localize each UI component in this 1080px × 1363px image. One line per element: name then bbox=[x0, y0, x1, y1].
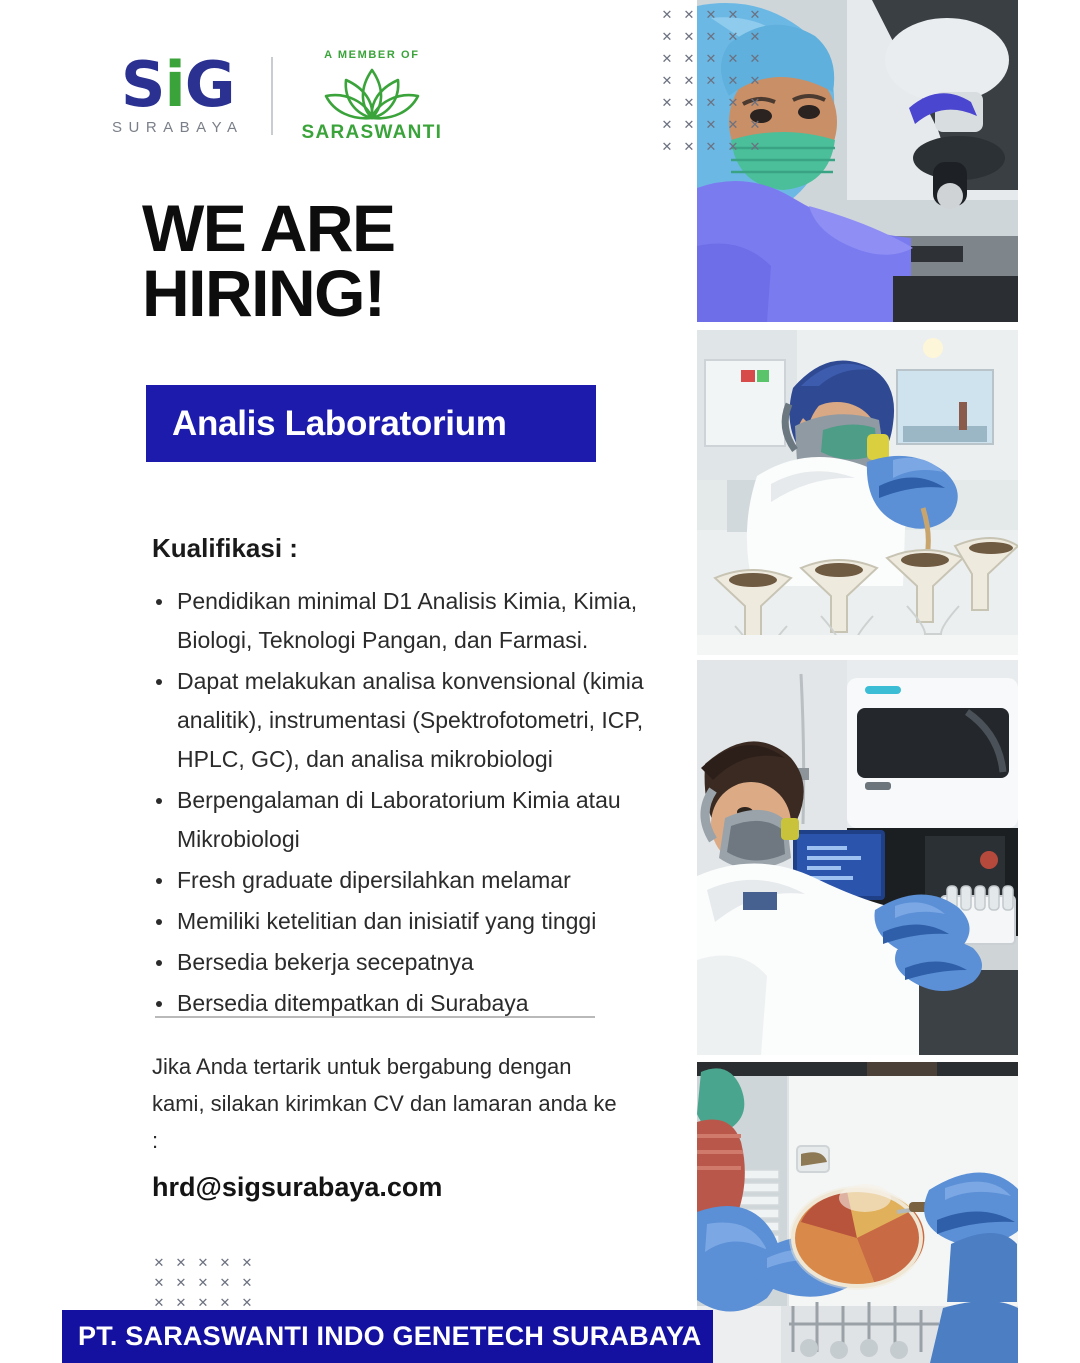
list-item: Memiliki ketelitian dan inisiatif yang t… bbox=[152, 902, 672, 941]
role-title: Analis Laboratorium bbox=[172, 404, 507, 444]
photo-column bbox=[697, 0, 1018, 1363]
logo-divider bbox=[271, 57, 273, 135]
lab-analyst-filtration-photo bbox=[697, 330, 1018, 655]
sig-letter-s: S bbox=[121, 48, 165, 121]
x-mark-icon: ✕ bbox=[744, 140, 766, 162]
decorative-x-grid-top-right: ✕✕✕✕✕✕✕✕✕✕✕✕✕✕✕✕✕✕✕✕✕✕✕✕✕✕✕✕✕✕✕✕✕✕✕ bbox=[656, 8, 766, 162]
x-mark-icon: ✕ bbox=[678, 96, 700, 118]
x-mark-icon: ✕ bbox=[678, 30, 700, 52]
list-item: Berpengalaman di Laboratorium Kimia atau… bbox=[152, 781, 672, 859]
x-mark-icon: ✕ bbox=[722, 8, 744, 30]
x-mark-icon: ✕ bbox=[722, 118, 744, 140]
x-mark-icon: ✕ bbox=[656, 140, 678, 162]
x-mark-icon: ✕ bbox=[744, 8, 766, 30]
page-title: WE ARE HIRING! bbox=[142, 196, 395, 325]
x-mark-icon: ✕ bbox=[214, 1276, 236, 1296]
x-mark-icon: ✕ bbox=[722, 52, 744, 74]
sig-subtitle: SURABAYA bbox=[112, 119, 243, 136]
x-mark-icon: ✕ bbox=[192, 1256, 214, 1276]
content-column: SiG SURABAYA A MEMBER OF SARASWANTI bbox=[0, 0, 700, 1363]
decorative-x-grid-bottom-left: ✕✕✕✕✕✕✕✕✕✕✕✕✕✕✕ bbox=[148, 1256, 258, 1316]
x-mark-icon: ✕ bbox=[214, 1256, 236, 1276]
x-mark-icon: ✕ bbox=[700, 140, 722, 162]
x-mark-icon: ✕ bbox=[700, 96, 722, 118]
x-mark-icon: ✕ bbox=[170, 1256, 192, 1276]
x-mark-icon: ✕ bbox=[148, 1276, 170, 1296]
x-mark-icon: ✕ bbox=[656, 8, 678, 30]
role-banner: Analis Laboratorium bbox=[146, 385, 596, 462]
sig-logo: SiG SURABAYA bbox=[112, 56, 243, 136]
x-mark-icon: ✕ bbox=[236, 1276, 258, 1296]
lab-analyst-instrument-photo bbox=[697, 660, 1018, 1055]
section-divider bbox=[155, 1016, 595, 1018]
job-poster: SiG SURABAYA A MEMBER OF SARASWANTI bbox=[0, 0, 1080, 1363]
qualifications-list: Pendidikan minimal D1 Analisis Kimia, Ki… bbox=[152, 582, 672, 1025]
list-item: Fresh graduate dipersilahkan melamar bbox=[152, 861, 672, 900]
x-mark-icon: ✕ bbox=[656, 74, 678, 96]
x-mark-icon: ✕ bbox=[700, 30, 722, 52]
x-mark-icon: ✕ bbox=[722, 96, 744, 118]
x-mark-icon: ✕ bbox=[678, 118, 700, 140]
x-mark-icon: ✕ bbox=[678, 74, 700, 96]
x-mark-icon: ✕ bbox=[656, 118, 678, 140]
sig-letter-g: G bbox=[185, 48, 235, 121]
x-mark-icon: ✕ bbox=[656, 52, 678, 74]
x-mark-icon: ✕ bbox=[700, 52, 722, 74]
x-mark-icon: ✕ bbox=[678, 52, 700, 74]
list-item: Dapat melakukan analisa konvensional (ki… bbox=[152, 662, 672, 779]
list-item: Pendidikan minimal D1 Analisis Kimia, Ki… bbox=[152, 582, 672, 660]
x-mark-icon: ✕ bbox=[170, 1276, 192, 1296]
x-mark-icon: ✕ bbox=[656, 30, 678, 52]
saraswanti-logo: A MEMBER OF SARASWANTI bbox=[301, 49, 442, 144]
company-name: PT. SARASWANTI INDO GENETECH SURABAYA bbox=[78, 1321, 701, 1352]
lotus-icon bbox=[316, 64, 428, 120]
logo-row: SiG SURABAYA A MEMBER OF SARASWANTI bbox=[112, 40, 442, 152]
headline-line-1: WE ARE bbox=[142, 196, 395, 261]
x-mark-icon: ✕ bbox=[236, 1256, 258, 1276]
lab-analyst-petri-dish-photo bbox=[697, 1062, 1018, 1363]
x-mark-icon: ✕ bbox=[700, 118, 722, 140]
headline-line-2: HIRING! bbox=[142, 261, 395, 326]
x-mark-icon: ✕ bbox=[744, 118, 766, 140]
x-mark-icon: ✕ bbox=[148, 1256, 170, 1276]
qualifications-heading: Kualifikasi : bbox=[152, 533, 298, 564]
x-mark-icon: ✕ bbox=[722, 140, 744, 162]
saraswanti-wordmark: SARASWANTI bbox=[301, 122, 442, 144]
x-mark-icon: ✕ bbox=[722, 30, 744, 52]
sig-letter-i: i bbox=[164, 48, 184, 121]
x-mark-icon: ✕ bbox=[744, 52, 766, 74]
x-mark-icon: ✕ bbox=[192, 1276, 214, 1296]
list-item: Bersedia bekerja secepatnya bbox=[152, 943, 672, 982]
sig-wordmark: SiG bbox=[121, 56, 235, 115]
x-mark-icon: ✕ bbox=[722, 74, 744, 96]
closing-paragraph: Jika Anda tertarik untuk bergabung denga… bbox=[152, 1048, 622, 1159]
x-mark-icon: ✕ bbox=[744, 30, 766, 52]
x-mark-icon: ✕ bbox=[656, 96, 678, 118]
x-mark-icon: ✕ bbox=[700, 74, 722, 96]
member-of-label: A MEMBER OF bbox=[324, 49, 419, 61]
contact-email[interactable]: hrd@sigsurabaya.com bbox=[152, 1172, 442, 1203]
company-footer-banner: PT. SARASWANTI INDO GENETECH SURABAYA bbox=[62, 1310, 713, 1363]
x-mark-icon: ✕ bbox=[744, 74, 766, 96]
x-mark-icon: ✕ bbox=[678, 8, 700, 30]
x-mark-icon: ✕ bbox=[678, 140, 700, 162]
x-mark-icon: ✕ bbox=[700, 8, 722, 30]
x-mark-icon: ✕ bbox=[744, 96, 766, 118]
